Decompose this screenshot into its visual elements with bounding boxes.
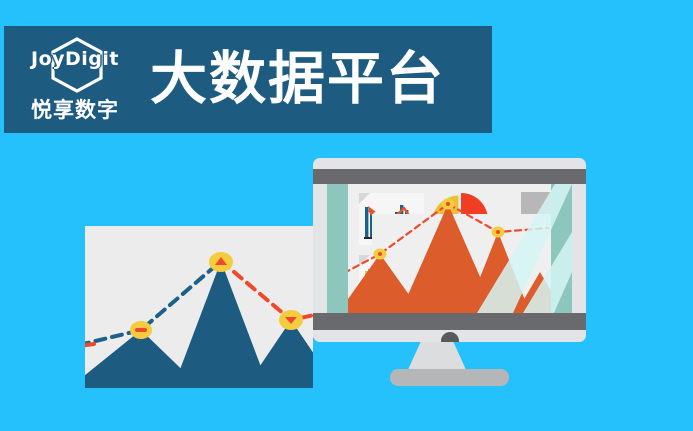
logo-subtitle: 悦享数字: [16, 94, 134, 124]
background-chart-svg: [85, 226, 313, 388]
monitor-frame: [313, 158, 586, 342]
background-marker-1: [130, 321, 152, 339]
background-area-chart: [85, 226, 313, 388]
screen-side-band-left: [327, 184, 348, 313]
dashboard-content: [348, 184, 551, 313]
header-banner: JoyDigit 悦享数字 大数据平台: [4, 26, 492, 133]
monitor-stand: [399, 341, 475, 372]
monitor-screen: [327, 184, 572, 313]
monitor-bezel-top: [313, 169, 586, 184]
area-marker-2: [442, 199, 455, 210]
background-marker-2: [209, 252, 233, 272]
poster-canvas: JoyDigit 悦享数字 大数据平台: [0, 0, 693, 431]
area-mountain-chart: [348, 184, 551, 313]
background-mountain-center: [173, 261, 269, 388]
area-marker-1: [374, 249, 387, 260]
screen-side-band-right: [551, 184, 572, 313]
monitor-power-button[interactable]: [441, 332, 459, 342]
monitor-bezel-bottom: [313, 313, 586, 330]
monitor-base: [390, 369, 509, 386]
area-marker-3: [492, 227, 505, 238]
page-title: 大数据平台: [150, 51, 445, 108]
background-trend-start-dash: [85, 344, 94, 346]
background-marker-3: [279, 310, 303, 330]
logo-wordmark: JoyDigit: [16, 48, 134, 70]
logo[interactable]: JoyDigit 悦享数字: [16, 34, 134, 126]
